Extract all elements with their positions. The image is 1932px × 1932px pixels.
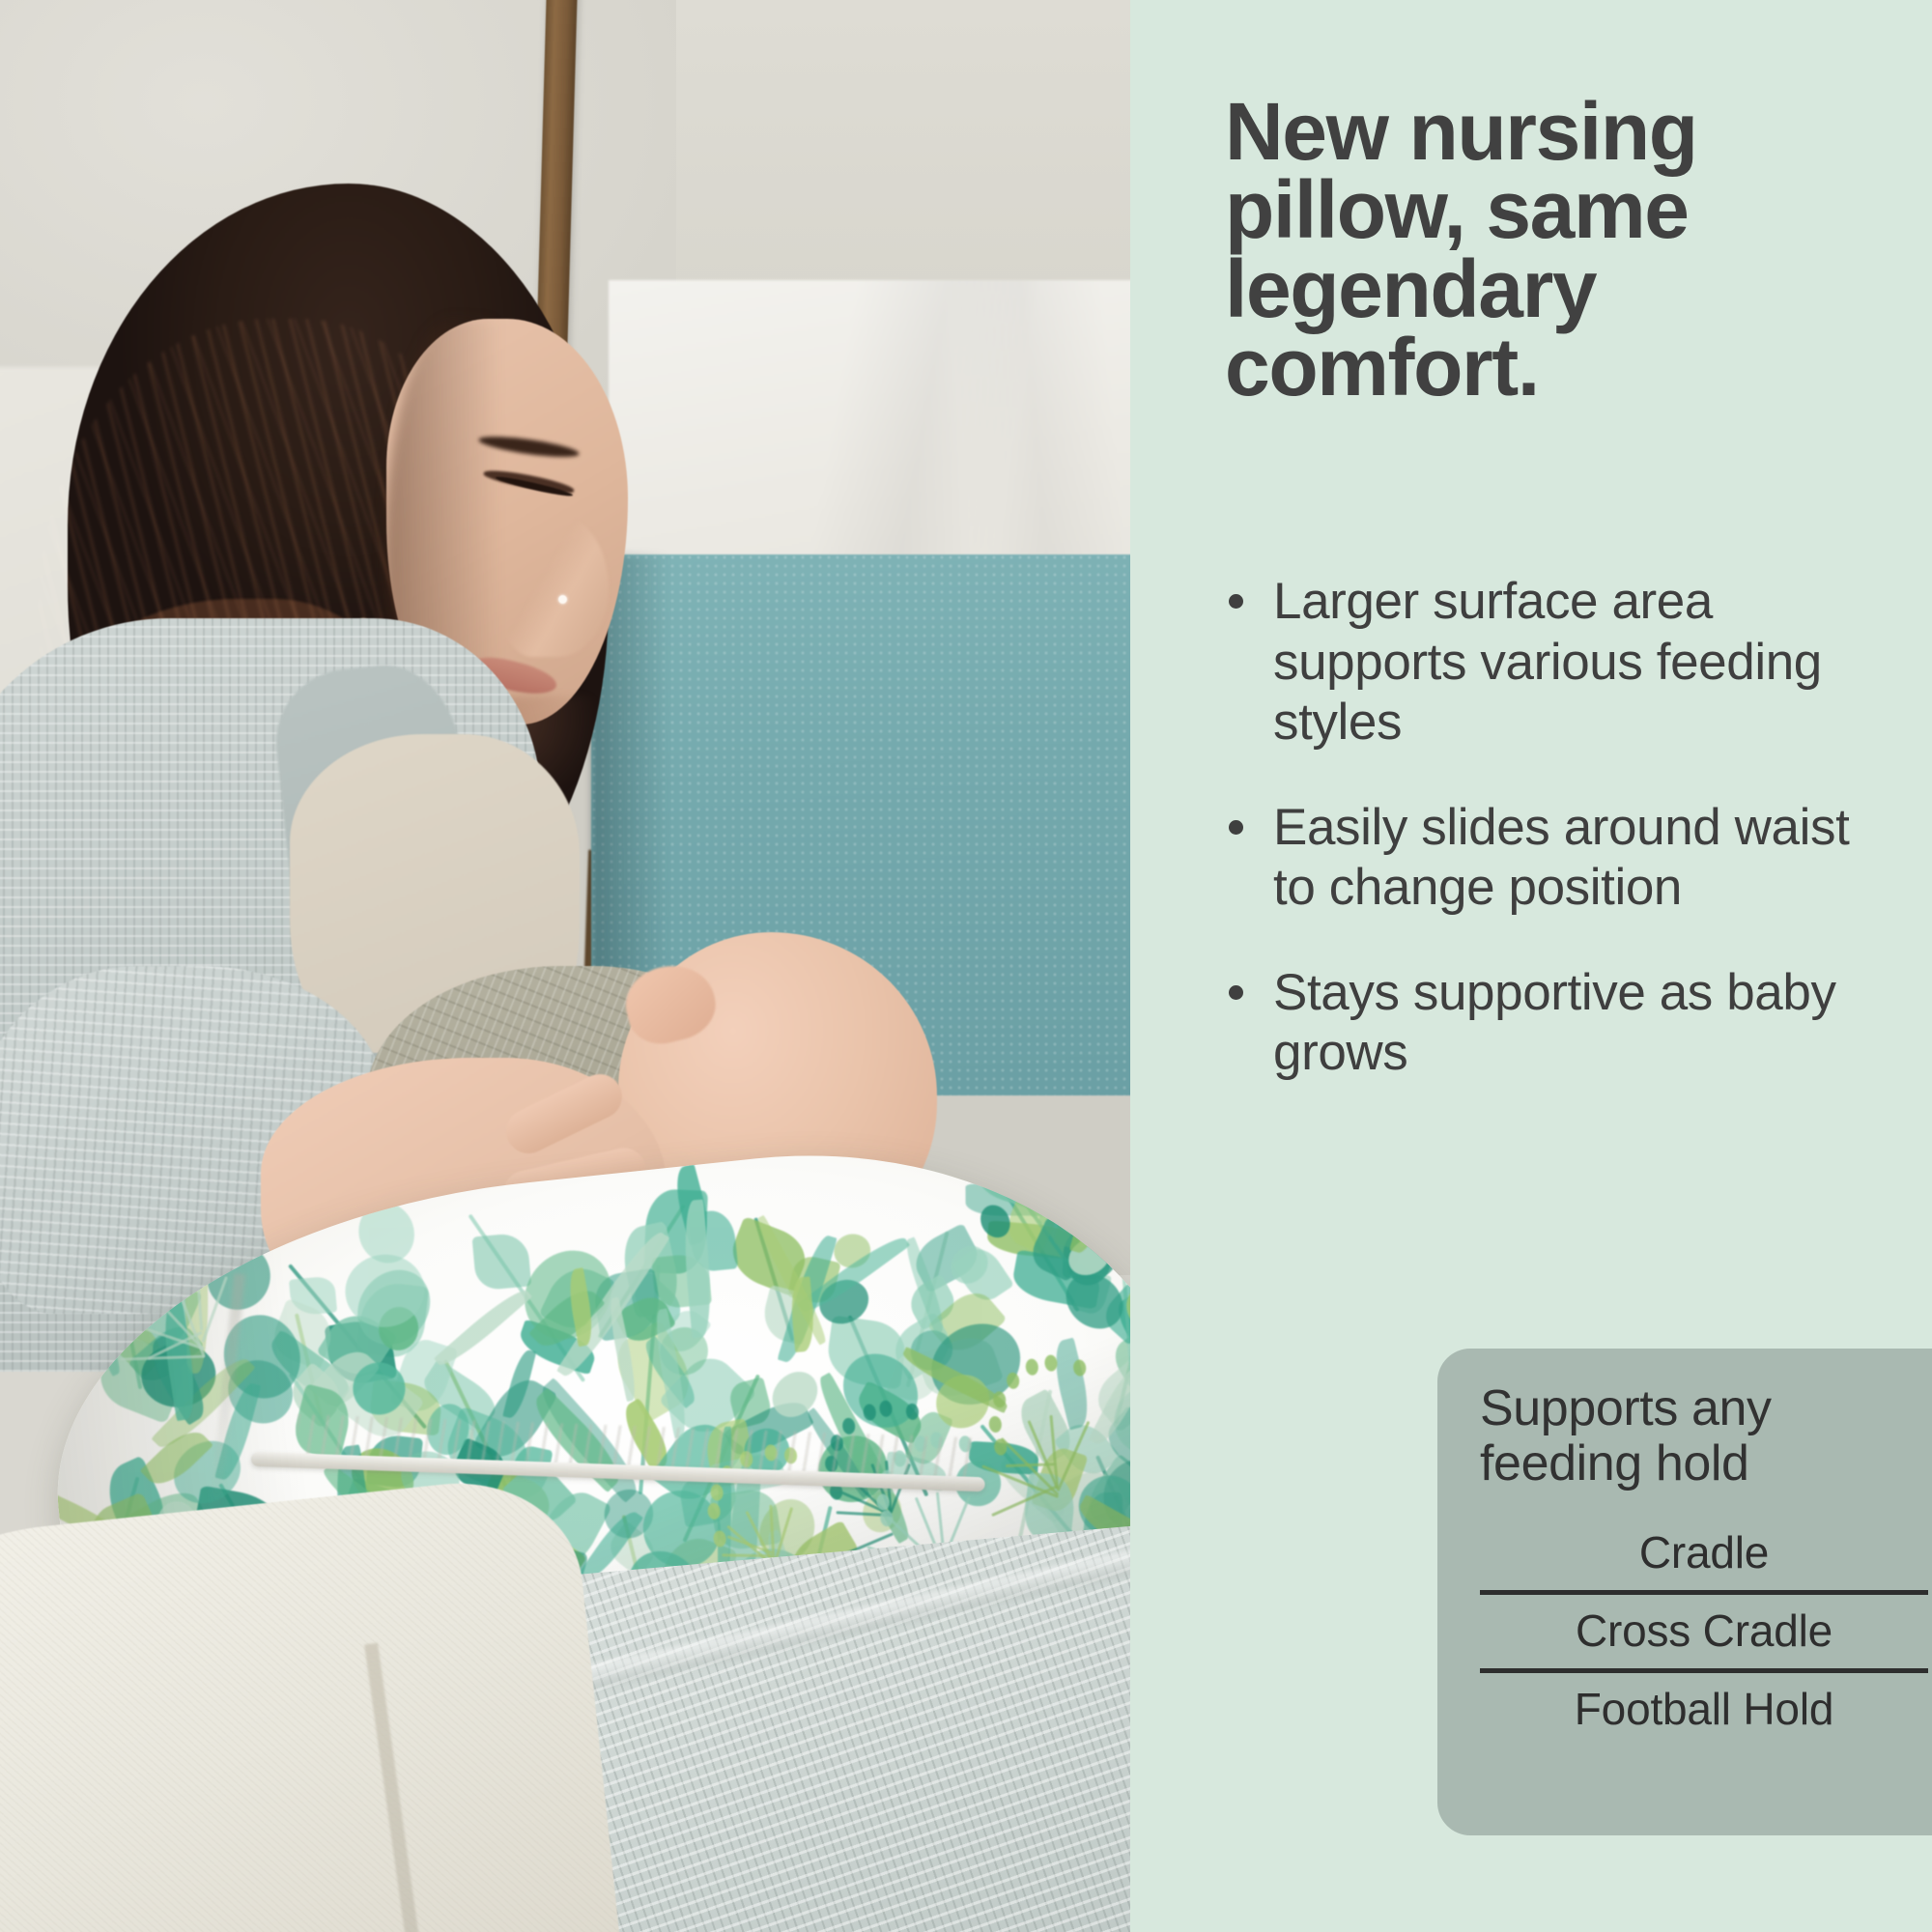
list-item: Stays supportive as baby grows	[1223, 963, 1889, 1084]
list-item: Easily slides around waist to change pos…	[1223, 798, 1889, 919]
copy-panel: New nursing pillow, same legendary comfo…	[1130, 0, 1932, 1932]
list-item: Larger surface area supports various fee…	[1223, 572, 1889, 753]
feeding-hold-card: Supports any feeding hold Cradle Cross C…	[1437, 1349, 1932, 1835]
list-item: Cradle	[1480, 1517, 1928, 1590]
list-item: Cross Cradle	[1480, 1590, 1928, 1668]
feeding-hold-title: Supports any feeding hold	[1480, 1381, 1928, 1492]
product-feature-ad: New nursing pillow, same legendary comfo…	[0, 0, 1932, 1932]
feeding-hold-list: Cradle Cross Cradle Football Hold	[1480, 1517, 1928, 1747]
feature-bullet-list: Larger surface area supports various fee…	[1223, 572, 1889, 1128]
couch-arm	[0, 1471, 623, 1932]
list-item: Football Hold	[1480, 1668, 1928, 1747]
page-title: New nursing pillow, same legendary comfo…	[1225, 93, 1901, 408]
lifestyle-photo	[0, 0, 1130, 1932]
nose-stud	[558, 595, 567, 604]
